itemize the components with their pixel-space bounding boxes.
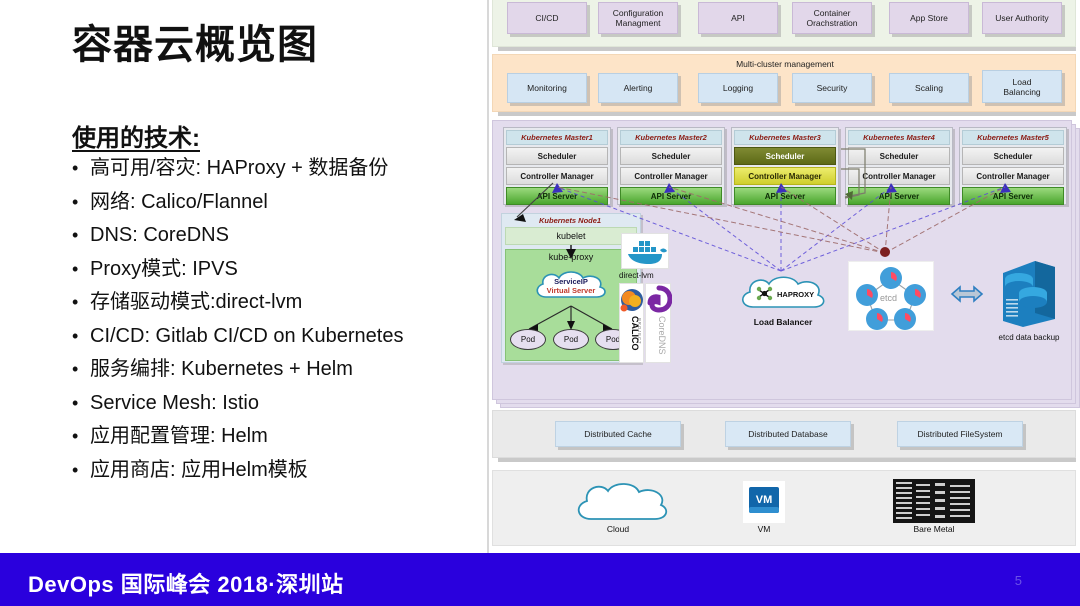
list-item: CI/CD: Gitlab CI/CD on Kubernetes [72, 320, 482, 354]
infra-vm-label: VM [704, 524, 824, 534]
service-chip-api[interactable]: API [698, 2, 778, 34]
distributed-chip-cache[interactable]: Distributed Cache [555, 421, 681, 447]
mgmt-chip-monitoring[interactable]: Monitoring [507, 73, 587, 103]
master-title: Kubernetes Master5 [962, 130, 1064, 145]
footer-bar: DevOps 国际峰会 2018·深圳站 5 [0, 553, 1080, 606]
service-chip-user-authority[interactable]: User Authority [982, 2, 1062, 34]
list-item: 高可用/容灾: HAProxy + 数据备份 [72, 152, 482, 186]
cloud-shape-icon: HAPROXY [737, 273, 829, 317]
chip-label: Logging [723, 83, 753, 93]
multi-cluster-band-title: Multi-cluster management [493, 59, 1077, 69]
cluster-band: Kubernetes Master1 Scheduler Controller … [492, 120, 1072, 400]
infra-cloud[interactable] [558, 479, 678, 525]
calico-icon: PROJECT CALICO [620, 284, 645, 364]
master-api-server[interactable]: API Server [962, 187, 1064, 205]
master-api-server[interactable]: API Server [620, 187, 722, 205]
distributed-chip-filesystem[interactable]: Distributed FileSystem [897, 421, 1023, 447]
chip-label: CI/CD [535, 13, 558, 23]
master-api-server[interactable]: API Server [848, 187, 950, 205]
master-title: Kubernetes Master1 [506, 130, 608, 145]
master-controller-manager-leader[interactable]: Controller Manager [734, 167, 836, 185]
master-controller-manager[interactable]: Controller Manager [506, 167, 608, 185]
svg-text:CALICO: CALICO [630, 316, 640, 351]
kubernetes-master-2[interactable]: Kubernetes Master2 Scheduler Controller … [617, 127, 725, 205]
etcd-backup-label: etcd data backup [983, 333, 1075, 342]
chip-label: Distributed Cache [584, 429, 652, 439]
chip-label-line1: Load [1013, 77, 1032, 87]
vertical-divider [487, 0, 489, 553]
load-balancer-haproxy[interactable]: HAPROXY [737, 273, 829, 317]
chip-label-line2: Managment [616, 18, 661, 28]
master-scheduler[interactable]: Scheduler [506, 147, 608, 165]
distributed-chip-database[interactable]: Distributed Database [725, 421, 851, 447]
master-title: Kubernetes Master4 [848, 130, 950, 145]
multi-cluster-band-shadow [498, 112, 1076, 116]
mgmt-chip-load-balancing[interactable]: Load Balancing [982, 70, 1062, 103]
page-number: 5 [1015, 573, 1022, 588]
list-item: 应用配置管理: Helm [72, 420, 482, 454]
kube-proxy-label: kube-proxy [506, 252, 636, 262]
mgmt-chip-security[interactable]: Security [792, 73, 872, 103]
list-item: 存储驱动模式:direct-lvm [72, 286, 482, 320]
technology-bullet-list: 高可用/容灾: HAProxy + 数据备份 网络: Calico/Flanne… [72, 152, 482, 487]
distributed-band-shadow [498, 458, 1076, 462]
chip-label: Monitoring [527, 83, 567, 93]
node-title: Kubernets Node1 [539, 216, 601, 225]
master-title: Kubernetes Master2 [620, 130, 722, 145]
master-scheduler[interactable]: Scheduler [848, 147, 950, 165]
pod-label: Pod [564, 335, 578, 344]
docker-whale-icon [622, 234, 670, 270]
load-balancer-label: Load Balancer [737, 317, 829, 327]
list-item: 应用商店: 应用Helm模板 [72, 454, 482, 488]
chip-label: User Authority [995, 13, 1048, 23]
master-controller-manager[interactable]: Controller Manager [962, 167, 1064, 185]
kubelet-label: kubelet [556, 231, 585, 241]
pod-1[interactable]: Pod [510, 329, 546, 350]
infra-bare-metal-label: Bare Metal [874, 524, 994, 534]
chip-label-line1: Configuration [613, 8, 664, 18]
kubernetes-master-4[interactable]: Kubernetes Master4 Scheduler Controller … [845, 127, 953, 205]
platform-services-band-shadow [498, 47, 1076, 51]
master-scheduler-leader[interactable]: Scheduler [734, 147, 836, 165]
list-item: DNS: CoreDNS [72, 219, 482, 253]
kubernetes-master-5[interactable]: Kubernetes Master5 Scheduler Controller … [959, 127, 1067, 205]
mgmt-chip-alerting[interactable]: Alerting [598, 73, 678, 103]
master-title: Kubernetes Master3 [734, 130, 836, 145]
service-chip-app-store[interactable]: App Store [889, 2, 969, 34]
etcd-data-backup[interactable] [993, 253, 1065, 333]
pod-2[interactable]: Pod [553, 329, 589, 350]
pod-label: Pod [521, 335, 535, 344]
vm-icon: VM [743, 481, 785, 523]
service-chip-configuration-management[interactable]: Configuration Managment [598, 2, 678, 34]
chip-label: Scaling [915, 83, 943, 93]
master-api-server[interactable]: API Server [506, 187, 608, 205]
coredns-logo-card: CoreDNS [645, 283, 671, 363]
section-heading: 使用的技术: [72, 118, 200, 153]
master-scheduler[interactable]: Scheduler [620, 147, 722, 165]
server-rack-icon [893, 479, 975, 523]
chip-label: Distributed Database [748, 429, 827, 439]
kubernetes-master-3[interactable]: Kubernetes Master3 Scheduler Controller … [731, 127, 839, 205]
infra-bare-metal[interactable] [893, 479, 975, 523]
coredns-icon: CoreDNS [646, 284, 672, 364]
list-item: Service Mesh: Istio [72, 387, 482, 421]
service-chip-container-orchestration[interactable]: Container Orachstration [792, 2, 872, 34]
chip-label-line2: Orachstration [806, 18, 857, 28]
kubernetes-master-1[interactable]: Kubernetes Master1 Scheduler Controller … [503, 127, 611, 205]
pod-label: Pod [606, 335, 620, 344]
list-item: 网络: Calico/Flannel [72, 186, 482, 220]
docker-logo-card [621, 233, 669, 269]
chip-label: App Store [910, 13, 948, 23]
service-ip-label: ServiceIP [532, 277, 610, 286]
node-kubelet[interactable]: kubelet [505, 227, 637, 245]
server-storage-icon [993, 253, 1065, 333]
left-content-panel: 容器云概览图 使用的技术: 高可用/容灾: HAProxy + 数据备份 网络:… [0, 0, 487, 553]
list-item: Proxy模式: IPVS [72, 253, 482, 287]
chip-label-line2: Balancing [1003, 87, 1040, 97]
master-controller-manager[interactable]: Controller Manager [848, 167, 950, 185]
chip-label: Security [817, 83, 848, 93]
virtual-server-label: Virtual Server [532, 286, 610, 295]
container-cloud-architecture-diagram: CI/CD Configuration Managment API Contai… [490, 0, 1080, 553]
platform-services-band: CI/CD Configuration Managment API Contai… [492, 0, 1076, 47]
svg-text:HAPROXY: HAPROXY [777, 290, 814, 299]
infra-cloud-label: Cloud [558, 524, 678, 534]
multi-cluster-management-band: Multi-cluster management Monitoring Aler… [492, 54, 1076, 112]
mgmt-chip-scaling[interactable]: Scaling [889, 73, 969, 103]
master-scheduler[interactable]: Scheduler [962, 147, 1064, 165]
svg-text:CoreDNS: CoreDNS [657, 316, 667, 355]
slide: 容器云概览图 使用的技术: 高可用/容灾: HAProxy + 数据备份 网络:… [0, 0, 1080, 606]
service-ip-virtual-server[interactable]: ServiceIP Virtual Server [532, 269, 610, 305]
service-chip-cicd[interactable]: CI/CD [507, 2, 587, 34]
infra-vm[interactable]: VM [743, 481, 785, 523]
svg-text:VM: VM [756, 494, 773, 506]
infrastructure-band: Cloud VM VM [492, 470, 1076, 546]
cloud-icon [558, 479, 678, 525]
page-title: 容器云概览图 [72, 22, 318, 68]
master-controller-manager[interactable]: Controller Manager [620, 167, 722, 185]
etcd-label: etcd [880, 293, 897, 303]
master-api-server[interactable]: API Server [734, 187, 836, 205]
chip-label: Alerting [624, 83, 653, 93]
chip-label: API [731, 13, 745, 23]
storage-driver-label: direct-lvm [619, 271, 654, 280]
footer-title: DevOps 国际峰会 2018·深圳站 [28, 567, 344, 599]
list-item: 服务编排: Kubernetes + Helm [72, 353, 482, 387]
chip-label: Distributed FileSystem [917, 429, 1002, 439]
distributed-services-band: Distributed Cache Distributed Database D… [492, 410, 1076, 458]
chip-label-line1: Container [814, 8, 851, 18]
calico-logo-card: PROJECT CALICO [619, 283, 644, 363]
mgmt-chip-logging[interactable]: Logging [698, 73, 778, 103]
